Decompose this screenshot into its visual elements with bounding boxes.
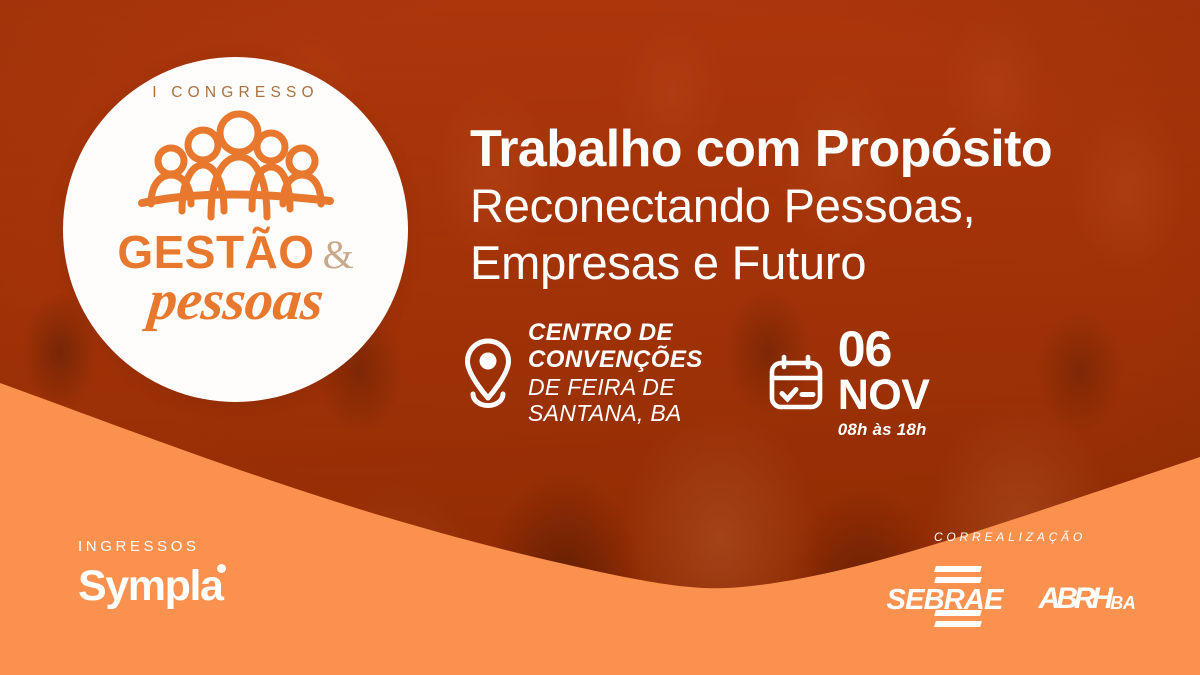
- headline-line-1: Trabalho com Propósito: [470, 122, 1170, 176]
- tickets-block: INGRESSOS Sympla: [78, 538, 223, 608]
- date-day: 06: [838, 326, 930, 374]
- sebrae-wordmark: SEBRAE: [885, 586, 1005, 615]
- venue-line-3: DE FEIRA DE: [528, 374, 703, 400]
- sympla-wordmark: Sympla: [78, 562, 223, 610]
- abrh-wordmark: ABRH: [1039, 584, 1110, 614]
- sponsors-label: CORREALIZAÇÃO: [860, 530, 1160, 544]
- sebrae-bar-2: [934, 577, 982, 583]
- venue-line-1: CENTRO DE: [528, 320, 703, 347]
- venue-line-4: SANTANA, BA: [528, 400, 703, 426]
- date-text: 06 NOV 08h às 18h: [838, 326, 930, 440]
- sponsors-block: CORREALIZAÇÃO SEBRAE ABRH BA: [860, 530, 1160, 634]
- event-details-row: CENTRO DE CONVENÇÕES DE FEIRA DE SANTANA…: [462, 320, 929, 440]
- venue-block: CENTRO DE CONVENÇÕES DE FEIRA DE SANTANA…: [462, 320, 703, 426]
- sebrae-bar-4: [934, 621, 982, 627]
- sponsor-logo-row: SEBRAE ABRH BA: [860, 564, 1160, 634]
- people-group-icon: [138, 109, 334, 227]
- location-pin-icon: [462, 336, 514, 410]
- badge-title-ampersand: &: [323, 235, 354, 275]
- sympla-dot-icon: [217, 564, 226, 573]
- abrh-state-suffix: BA: [1110, 594, 1135, 612]
- tickets-label: INGRESSOS: [78, 538, 223, 555]
- abrh-logo: ABRH BA: [1039, 584, 1136, 614]
- headline-line-3: Empresas e Futuro: [470, 236, 1170, 290]
- date-hours: 08h às 18h: [838, 420, 930, 440]
- date-month: NOV: [838, 375, 930, 416]
- badge-title-pessoas: pessoas: [145, 271, 325, 331]
- date-block: 06 NOV 08h às 18h: [767, 326, 930, 440]
- congress-logo-badge: I CONGRESSO: [63, 57, 408, 402]
- page-title: Trabalho com Propósito Reconectando Pess…: [470, 122, 1170, 289]
- sympla-logo[interactable]: Sympla: [78, 565, 223, 608]
- badge-congress-label: I CONGRESSO: [152, 84, 319, 102]
- sebrae-bar-1: [934, 566, 982, 572]
- headline-line-2: Reconectando Pessoas,: [470, 179, 1170, 233]
- venue-text: CENTRO DE CONVENÇÕES DE FEIRA DE SANTANA…: [528, 320, 703, 426]
- venue-line-2: CONVENÇÕES: [528, 347, 703, 374]
- event-poster: I CONGRESSO: [0, 0, 1200, 675]
- sebrae-logo: SEBRAE: [885, 564, 1005, 634]
- calendar-icon: [767, 354, 825, 412]
